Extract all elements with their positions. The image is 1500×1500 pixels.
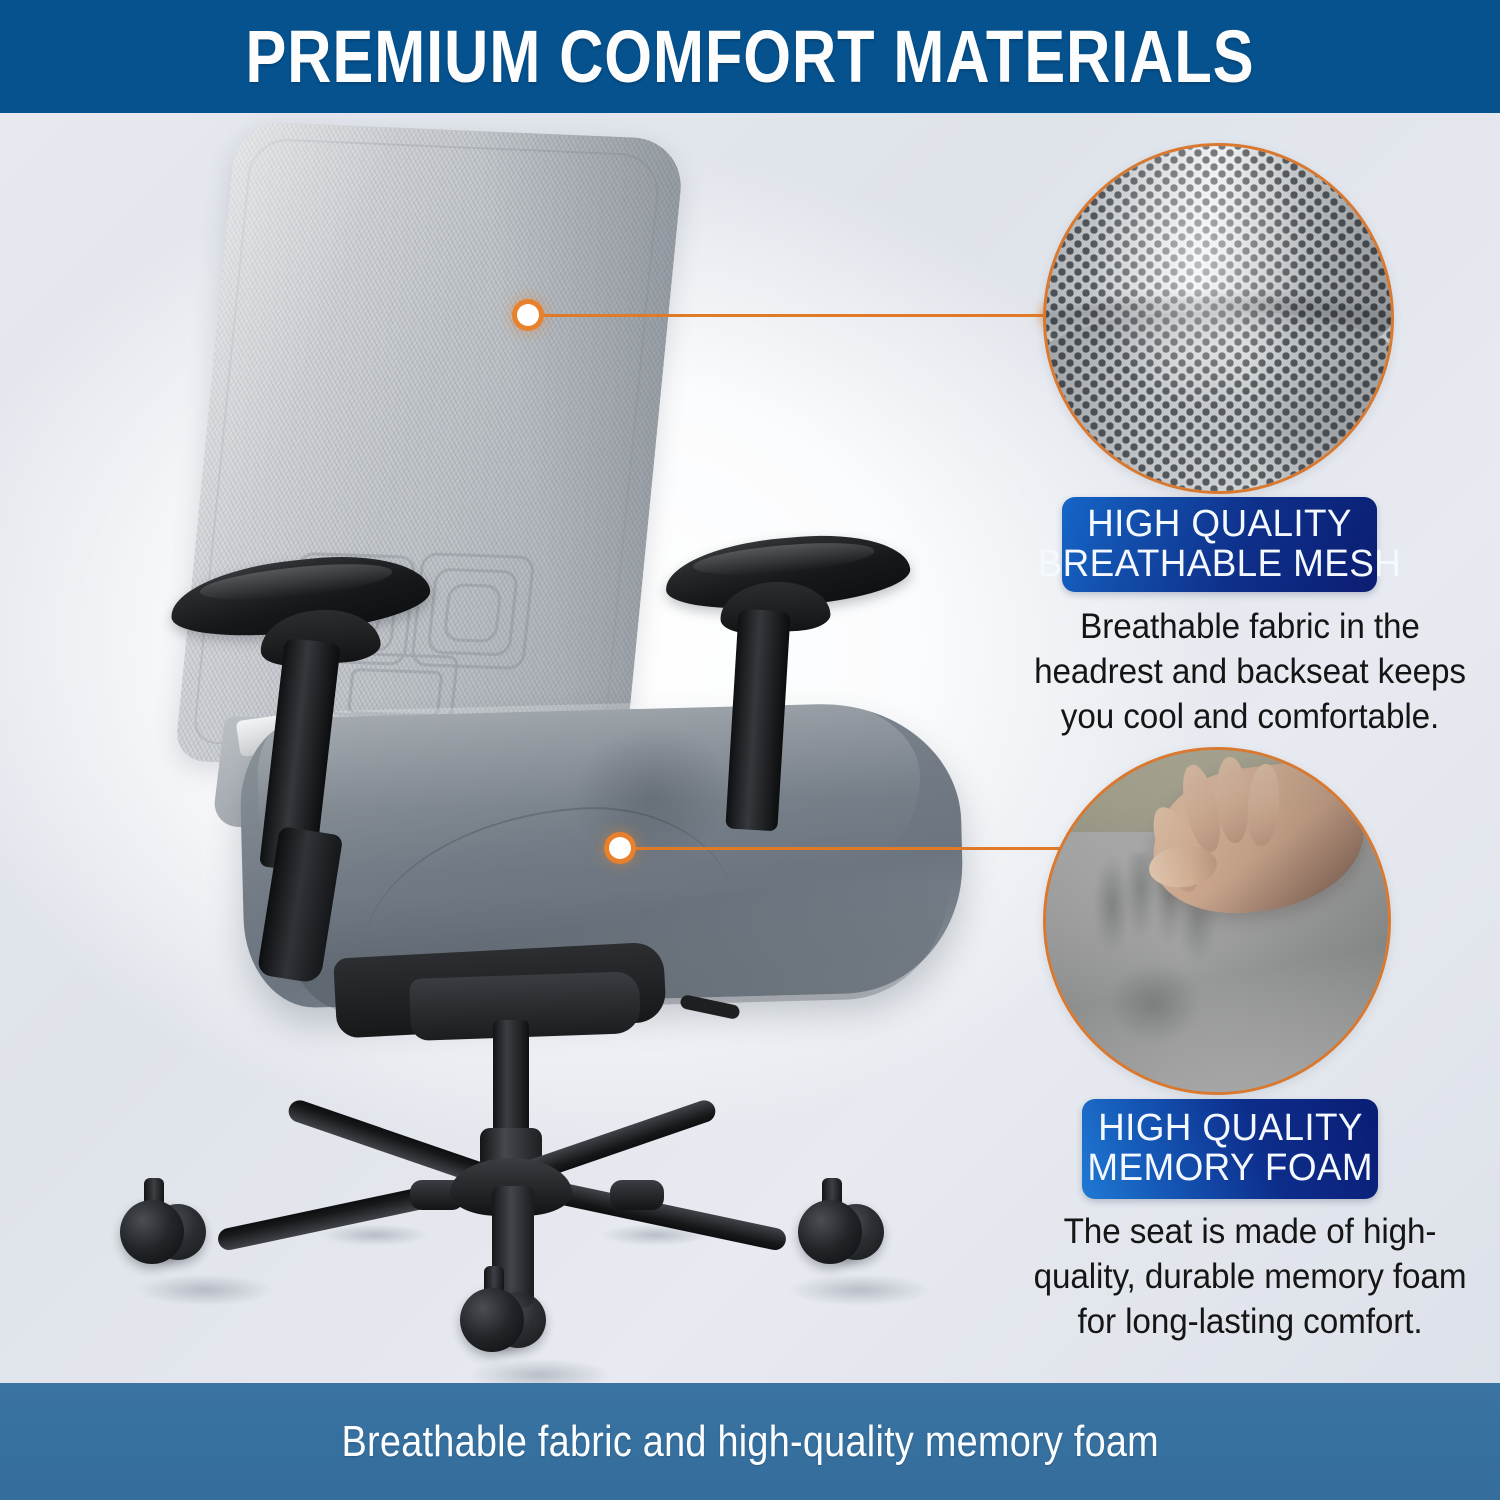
header-banner: PREMIUM COMFORT MATERIALS <box>0 0 1500 113</box>
callout-line-foam <box>630 847 1114 850</box>
badge-foam-line1: HIGH QUALITY <box>1098 1109 1363 1149</box>
page-title: PREMIUM COMFORT MATERIALS <box>245 20 1254 94</box>
product-chair-image <box>110 120 990 1360</box>
badge-breathable-mesh: HIGH QUALITY BREATHABLE MESH <box>1062 497 1377 592</box>
description-foam: The seat is made of high-quality, durabl… <box>1017 1210 1483 1344</box>
callout-anchor-dot-mesh <box>517 304 539 326</box>
base-leg-cap <box>610 1180 664 1210</box>
description-mesh: Breathable fabric in the headrest and ba… <box>1017 605 1483 739</box>
callout-anchor-dot-foam <box>609 837 631 859</box>
infographic-page: PREMIUM COMFORT MATERIALS <box>0 0 1500 1500</box>
gas-cylinder <box>493 1020 529 1140</box>
footer-caption: Breathable fabric and high-quality memor… <box>341 1417 1158 1467</box>
badge-mesh-line1: HIGH QUALITY <box>1087 505 1352 545</box>
callout-line-mesh <box>538 314 1058 317</box>
footer-banner: Breathable fabric and high-quality memor… <box>0 1383 1500 1500</box>
mesh-fabric-photo <box>1043 143 1394 494</box>
badge-memory-foam: HIGH QUALITY MEMORY FOAM <box>1082 1099 1378 1199</box>
badge-mesh-line2: BREATHABLE MESH <box>1038 545 1402 585</box>
badge-foam-line2: MEMORY FOAM <box>1087 1149 1373 1189</box>
memory-foam-photo <box>1043 747 1391 1095</box>
